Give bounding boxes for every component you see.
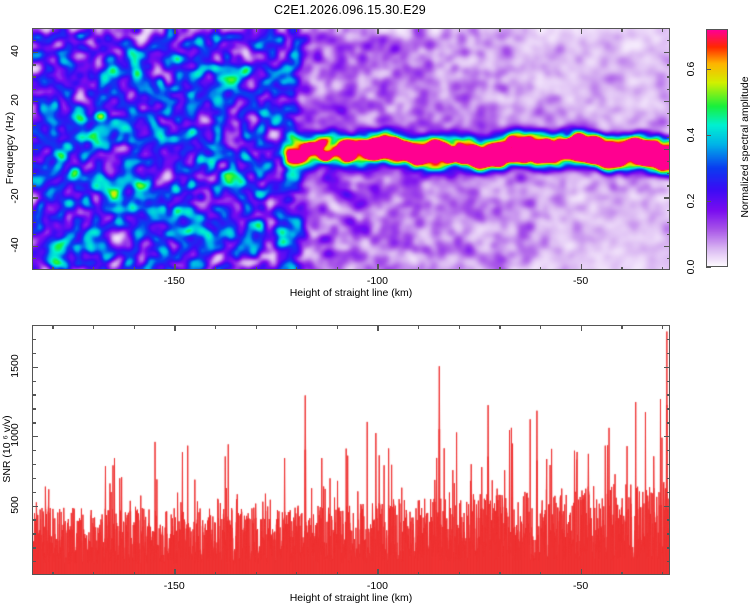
xaxis-tick-label: -50 xyxy=(573,580,588,592)
figure-title: C2E1.2026.096.15.30.E29 xyxy=(0,3,700,17)
snr-axes xyxy=(32,325,670,575)
xaxis-tick xyxy=(215,28,216,32)
xaxis-tick xyxy=(296,572,297,576)
yaxis-tick xyxy=(32,173,36,174)
xaxis-tick xyxy=(459,267,460,271)
yaxis-tick xyxy=(667,450,671,451)
yaxis-tick xyxy=(32,492,36,493)
yaxis-tick-label: -40 xyxy=(9,232,21,258)
yaxis-tick xyxy=(32,450,36,451)
yaxis-tick xyxy=(667,210,671,211)
xaxis-tick xyxy=(662,267,663,271)
xaxis-tick xyxy=(174,264,175,270)
yaxis-tick xyxy=(32,394,36,395)
xaxis-tick xyxy=(459,28,460,32)
xaxis-tick-label: -100 xyxy=(367,275,388,287)
yaxis-tick xyxy=(32,185,36,186)
yaxis-tick xyxy=(32,422,36,423)
colorbar-tick xyxy=(706,267,711,268)
yaxis-tick xyxy=(32,76,36,77)
xaxis-tick xyxy=(540,572,541,576)
xaxis-tick xyxy=(581,264,582,270)
xaxis-tick xyxy=(459,325,460,329)
xaxis-tick xyxy=(296,267,297,271)
xaxis-tick xyxy=(581,325,582,331)
yaxis-tick xyxy=(32,478,36,479)
yaxis-tick xyxy=(667,222,671,223)
yaxis-tick xyxy=(667,185,671,186)
yaxis-tick xyxy=(32,547,36,548)
yaxis-tick xyxy=(32,149,38,150)
yaxis-tick xyxy=(667,408,671,409)
yaxis-tick xyxy=(32,52,38,53)
xaxis-tick xyxy=(215,572,216,576)
yaxis-tick-label: 40 xyxy=(9,38,21,64)
xaxis-tick xyxy=(174,28,175,34)
xaxis-tick xyxy=(337,572,338,576)
xaxis-tick xyxy=(134,325,135,329)
xaxis-tick xyxy=(540,267,541,271)
xaxis-tick xyxy=(52,325,53,329)
colorbar xyxy=(706,29,728,267)
xaxis-tick-label: -150 xyxy=(164,275,185,287)
yaxis-tick xyxy=(664,436,670,437)
yaxis-tick xyxy=(32,506,38,507)
spectrogram-yaxis-label: Frequency (Hz) xyxy=(4,78,16,218)
yaxis-tick xyxy=(667,137,671,138)
colorbar-tick xyxy=(706,201,711,202)
xaxis-tick xyxy=(621,28,622,32)
xaxis-tick xyxy=(499,572,500,576)
yaxis-tick xyxy=(664,149,670,150)
yaxis-tick xyxy=(32,210,36,211)
xaxis-tick xyxy=(215,325,216,329)
colorbar-tick xyxy=(706,135,711,136)
yaxis-tick xyxy=(664,506,670,507)
yaxis-tick xyxy=(667,561,671,562)
yaxis-tick xyxy=(32,234,36,235)
spectrogram-image xyxy=(33,29,670,270)
xaxis-tick xyxy=(621,572,622,576)
xaxis-tick xyxy=(52,267,53,271)
yaxis-tick xyxy=(32,89,36,90)
xaxis-tick xyxy=(662,28,663,32)
xaxis-tick xyxy=(52,572,53,576)
yaxis-tick xyxy=(32,113,36,114)
xaxis-tick xyxy=(256,572,257,576)
yaxis-tick xyxy=(32,222,36,223)
yaxis-tick xyxy=(32,408,36,409)
xaxis-tick xyxy=(377,264,378,270)
yaxis-tick xyxy=(667,339,671,340)
yaxis-tick xyxy=(32,137,36,138)
snr-xaxis-label: Height of straight line (km) xyxy=(290,592,413,604)
xaxis-tick xyxy=(337,267,338,271)
yaxis-tick xyxy=(32,40,36,41)
xaxis-tick xyxy=(459,572,460,576)
yaxis-tick xyxy=(32,381,36,382)
xaxis-tick xyxy=(377,28,378,34)
yaxis-tick xyxy=(32,367,38,368)
yaxis-tick xyxy=(32,125,36,126)
xaxis-tick xyxy=(134,28,135,32)
xaxis-tick xyxy=(377,569,378,575)
spectrogram-axes xyxy=(32,28,670,270)
xaxis-tick xyxy=(581,569,582,575)
yaxis-tick xyxy=(667,519,671,520)
figure-root: C2E1.2026.096.15.30.E29 -150-100-50-40-2… xyxy=(0,0,750,600)
yaxis-tick xyxy=(667,533,671,534)
xaxis-tick-label: -100 xyxy=(367,580,388,592)
xaxis-tick xyxy=(621,325,622,329)
yaxis-tick-label: 1500 xyxy=(9,353,21,379)
yaxis-tick xyxy=(32,436,38,437)
yaxis-tick xyxy=(667,381,671,382)
yaxis-tick xyxy=(32,258,36,259)
xaxis-tick xyxy=(174,569,175,575)
yaxis-tick xyxy=(32,64,36,65)
yaxis-tick xyxy=(32,464,36,465)
xaxis-tick xyxy=(499,28,500,32)
yaxis-tick xyxy=(667,89,671,90)
yaxis-tick xyxy=(667,64,671,65)
xaxis-tick xyxy=(621,267,622,271)
xaxis-tick-label: -150 xyxy=(164,580,185,592)
colorbar-tick xyxy=(706,69,711,70)
yaxis-tick xyxy=(667,76,671,77)
yaxis-tick xyxy=(32,101,38,102)
yaxis-tick xyxy=(667,464,671,465)
xaxis-tick xyxy=(662,325,663,329)
yaxis-tick xyxy=(32,246,38,247)
colorbar-label: Normalized spectral amplitude xyxy=(739,72,750,222)
snr-yaxis-label: SNR (10 ⁶ v/v) xyxy=(1,379,13,519)
yaxis-tick xyxy=(32,161,36,162)
xaxis-tick xyxy=(418,28,419,32)
yaxis-tick xyxy=(32,533,36,534)
xaxis-tick xyxy=(174,325,175,331)
yaxis-tick xyxy=(667,234,671,235)
xaxis-tick xyxy=(337,28,338,32)
xaxis-tick xyxy=(296,325,297,329)
yaxis-tick xyxy=(667,492,671,493)
yaxis-tick xyxy=(667,258,671,259)
yaxis-tick xyxy=(667,161,671,162)
yaxis-tick xyxy=(667,353,671,354)
yaxis-tick xyxy=(664,52,670,53)
xaxis-tick xyxy=(499,325,500,329)
spectrogram-xaxis-label: Height of straight line (km) xyxy=(290,287,413,299)
yaxis-tick xyxy=(32,561,36,562)
xaxis-tick xyxy=(499,267,500,271)
xaxis-tick xyxy=(377,325,378,331)
xaxis-tick xyxy=(256,325,257,329)
xaxis-tick xyxy=(540,325,541,329)
xaxis-tick xyxy=(337,325,338,329)
yaxis-tick xyxy=(667,422,671,423)
xaxis-tick xyxy=(581,28,582,34)
xaxis-tick xyxy=(134,572,135,576)
xaxis-tick xyxy=(296,28,297,32)
yaxis-tick xyxy=(32,197,38,198)
yaxis-tick xyxy=(32,519,36,520)
yaxis-tick xyxy=(667,40,671,41)
xaxis-tick xyxy=(93,28,94,32)
colorbar-tick-label: 0.6 xyxy=(685,58,697,80)
xaxis-tick-label: -50 xyxy=(573,275,588,287)
xaxis-tick xyxy=(418,267,419,271)
colorbar-gradient xyxy=(707,30,728,267)
xaxis-tick xyxy=(93,572,94,576)
yaxis-tick xyxy=(667,125,671,126)
yaxis-tick xyxy=(664,246,670,247)
colorbar-tick-label: 0.4 xyxy=(685,124,697,146)
xaxis-tick xyxy=(418,325,419,329)
xaxis-tick xyxy=(418,572,419,576)
yaxis-tick xyxy=(32,353,36,354)
xaxis-tick xyxy=(93,267,94,271)
yaxis-tick xyxy=(664,101,670,102)
yaxis-tick xyxy=(667,478,671,479)
yaxis-tick xyxy=(664,367,670,368)
xaxis-tick xyxy=(256,267,257,271)
snr-trace-line xyxy=(33,326,670,575)
yaxis-tick xyxy=(32,339,36,340)
colorbar-tick-label: 0.2 xyxy=(685,190,697,212)
xaxis-tick xyxy=(215,267,216,271)
colorbar-tick-label: 0.0 xyxy=(685,256,697,278)
xaxis-tick xyxy=(52,28,53,32)
yaxis-tick xyxy=(667,547,671,548)
xaxis-tick xyxy=(540,28,541,32)
yaxis-tick xyxy=(667,394,671,395)
xaxis-tick xyxy=(662,572,663,576)
yaxis-tick xyxy=(667,173,671,174)
xaxis-tick xyxy=(134,267,135,271)
yaxis-tick xyxy=(667,113,671,114)
xaxis-tick xyxy=(93,325,94,329)
xaxis-tick xyxy=(256,28,257,32)
yaxis-tick xyxy=(664,197,670,198)
